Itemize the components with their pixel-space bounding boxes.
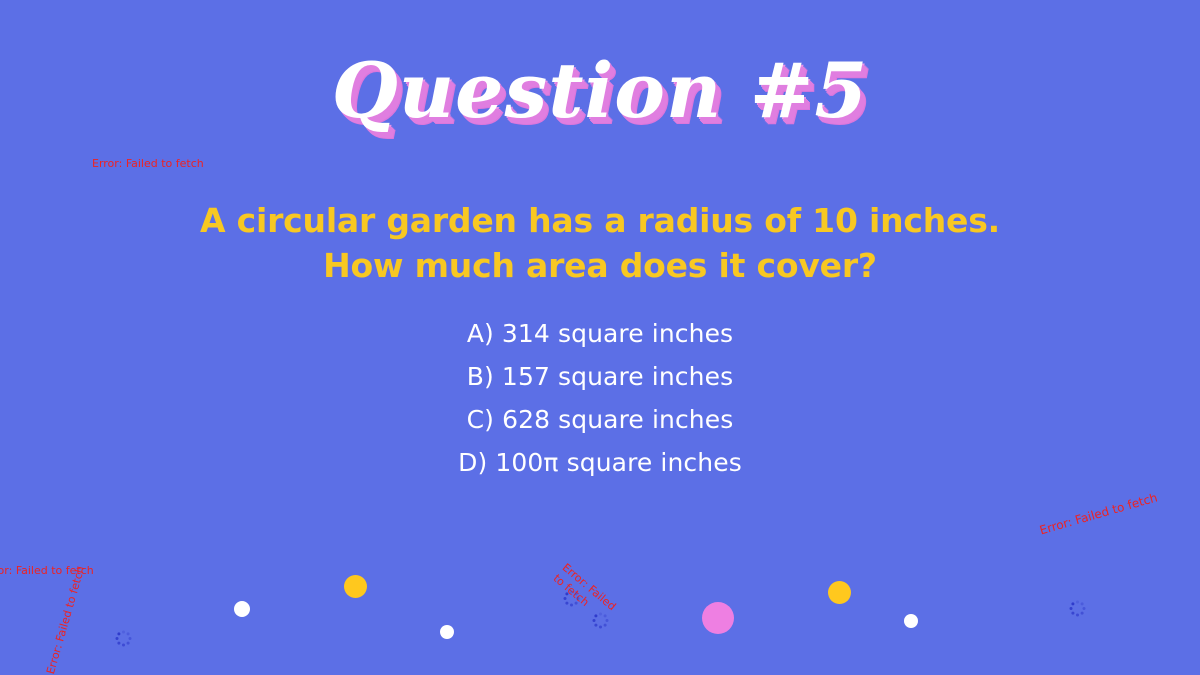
spinner-dot: [1080, 611, 1083, 614]
spinner-dot: [592, 619, 595, 622]
answer-option-a[interactable]: A) 314 square inches: [0, 312, 1200, 355]
slide-canvas: Question #5 Error: Failed to fetch A cir…: [0, 0, 1200, 675]
error-toast-center-diagonal: Error: Failed to fetch: [550, 561, 622, 627]
spinner-dot: [574, 592, 577, 595]
spinner-dot: [1076, 613, 1079, 616]
spinner-dot: [605, 619, 608, 622]
spinner-dot: [128, 637, 131, 640]
spinner-dot: [570, 590, 573, 593]
decor-circle-yellow-2: [828, 581, 851, 604]
spinner-dot: [122, 643, 125, 646]
spinner-dot: [599, 625, 602, 628]
decor-circle-white-2: [440, 625, 454, 639]
spinner-dot: [1080, 602, 1083, 605]
question-text: A circular garden has a radius of 10 inc…: [0, 198, 1200, 288]
spinner-dot: [594, 614, 597, 617]
question-line-2: How much area does it cover?: [0, 243, 1200, 288]
answer-options-list: A) 314 square inches B) 157 square inche…: [0, 312, 1200, 484]
loading-spinner-2: [562, 589, 580, 607]
error-toast-left-vertical: Error: Failed to fetch: [44, 565, 87, 675]
spinner-dot: [117, 641, 120, 644]
spinner-dot: [576, 597, 579, 600]
loading-spinner-4: [1068, 599, 1086, 617]
answer-option-d[interactable]: D) 100π square inches: [0, 441, 1200, 484]
decor-circle-white-3: [904, 614, 918, 628]
spinner-dot: [126, 632, 129, 635]
decor-circle-white-1: [234, 601, 250, 617]
spinner-dot: [117, 632, 120, 635]
decor-circle-pink-1: [702, 602, 734, 634]
error-toast-top-left: Error: Failed to fetch: [92, 157, 204, 170]
loading-spinner-3: [591, 611, 609, 629]
spinner-dot: [603, 623, 606, 626]
spinner-dot: [565, 601, 568, 604]
spinner-dot: [1069, 607, 1072, 610]
spinner-dot: [122, 630, 125, 633]
spinner-dot: [1071, 611, 1074, 614]
page-title: Question #5: [0, 46, 1200, 135]
error-toast-right: Error: Failed to fetch: [1038, 490, 1159, 537]
answer-option-b[interactable]: B) 157 square inches: [0, 355, 1200, 398]
spinner-dot: [563, 597, 566, 600]
spinner-dot: [603, 614, 606, 617]
spinner-dot: [1082, 607, 1085, 610]
spinner-dot: [599, 612, 602, 615]
spinner-dot: [1071, 602, 1074, 605]
answer-option-c[interactable]: C) 628 square inches: [0, 398, 1200, 441]
spinner-dot: [115, 637, 118, 640]
loading-spinner-1: [114, 629, 132, 647]
spinner-dot: [1076, 600, 1079, 603]
question-line-1: A circular garden has a radius of 10 inc…: [0, 198, 1200, 243]
spinner-dot: [126, 641, 129, 644]
decor-circle-yellow-1: [344, 575, 367, 598]
spinner-dot: [565, 592, 568, 595]
spinner-dot: [574, 601, 577, 604]
spinner-dot: [594, 623, 597, 626]
spinner-dot: [570, 603, 573, 606]
